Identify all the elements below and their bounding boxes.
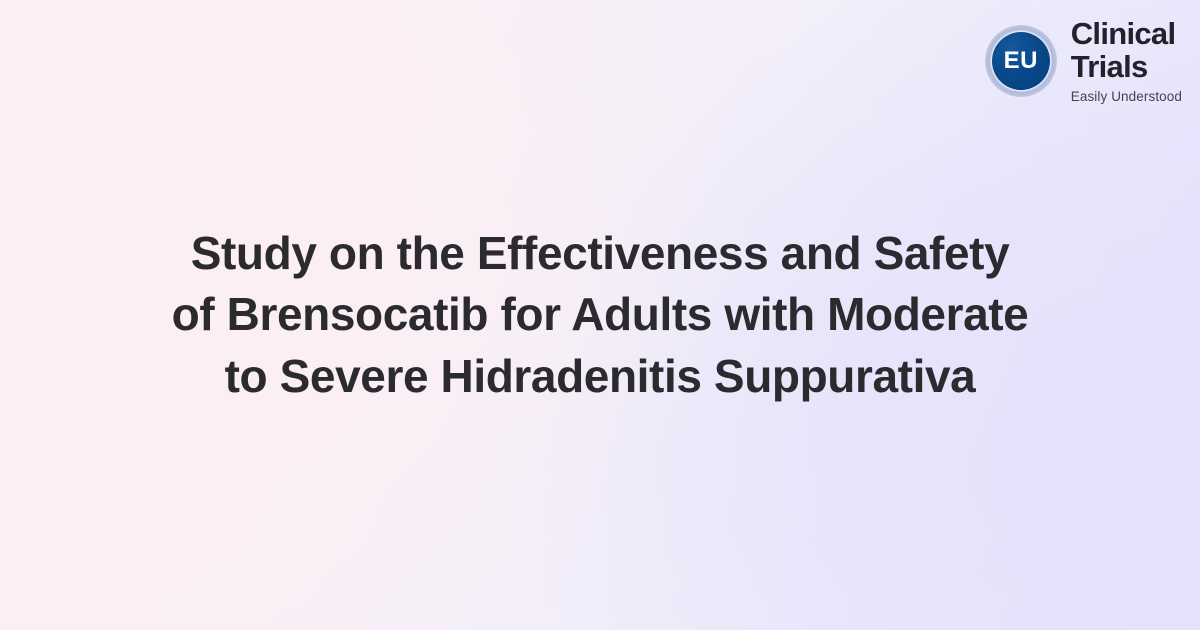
page-title: Study on the Effectiveness and Safety of… <box>170 223 1030 407</box>
logo-mark-label: EU <box>1004 49 1038 73</box>
title-container: Study on the Effectiveness and Safety of… <box>0 0 1200 630</box>
social-share-card: { "brand": { "mark_text": "EU", "name_li… <box>0 0 1200 630</box>
